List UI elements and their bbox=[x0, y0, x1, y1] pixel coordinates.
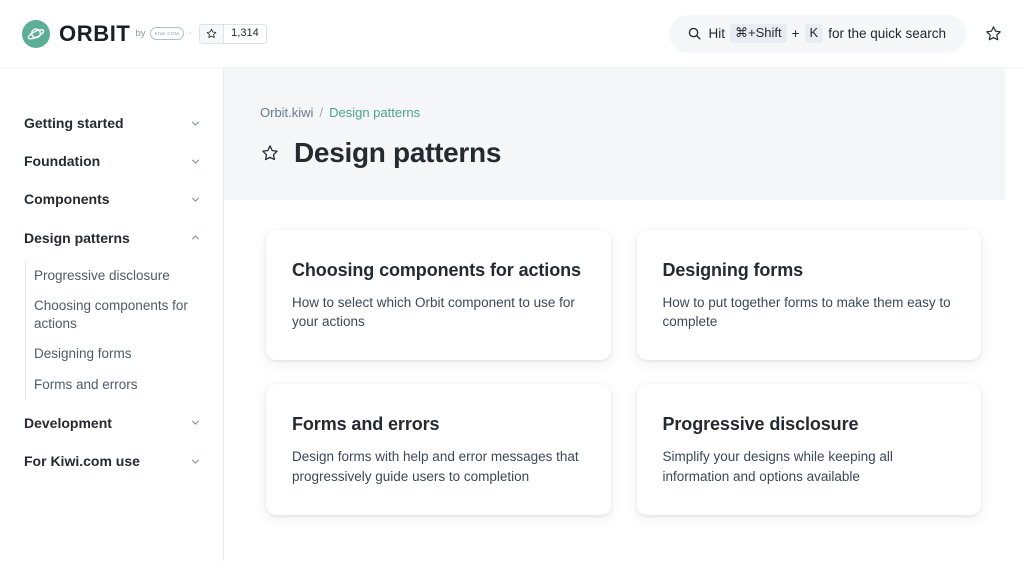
breadcrumb: Orbit.kiwi / Design patterns bbox=[260, 106, 1005, 119]
brand-logo-link[interactable]: ORBIT bbox=[22, 20, 130, 48]
sidebar-group-for-kiwi-com-use[interactable]: For Kiwi.com use bbox=[24, 442, 201, 480]
pattern-cards-grid: Choosing components for actionsHow to se… bbox=[266, 230, 981, 515]
sidebar-group-design-patterns[interactable]: Design patterns bbox=[24, 219, 201, 257]
chevron-up-icon[interactable] bbox=[190, 232, 201, 243]
pattern-card-description: How to select which Orbit component to u… bbox=[292, 293, 585, 333]
breadcrumb-root[interactable]: Orbit.kiwi bbox=[260, 106, 313, 119]
main-content: Orbit.kiwi / Design patterns Design patt… bbox=[224, 68, 1024, 561]
chevron-down-icon[interactable] bbox=[190, 456, 201, 467]
search-suffix-label: for the quick search bbox=[828, 26, 946, 41]
bookmark-star-icon[interactable] bbox=[980, 21, 1006, 47]
pattern-card-description: Simplify your designs while keeping all … bbox=[663, 447, 956, 487]
sidebar-group-label: Design patterns bbox=[24, 229, 130, 247]
sidebar-group-getting-started[interactable]: Getting started bbox=[24, 104, 201, 142]
sidebar-item-choosing-components-for-actions[interactable]: Choosing components for actions bbox=[34, 291, 201, 339]
by-label: by bbox=[135, 29, 145, 39]
github-star-count: 1,314 bbox=[224, 25, 266, 43]
sidebar-group-label: Components bbox=[24, 190, 110, 208]
pattern-card-title: Designing forms bbox=[663, 259, 956, 282]
sidebar-item-progressive-disclosure[interactable]: Progressive disclosure bbox=[34, 261, 201, 291]
page-title: Design patterns bbox=[294, 138, 501, 169]
by-kiwi-credit: by KIWI.COM bbox=[135, 27, 183, 40]
sidebar-group-foundation[interactable]: Foundation bbox=[24, 142, 201, 180]
kiwi-com-logo-text: KIWI.COM bbox=[154, 31, 178, 37]
orbit-documentation-app: ORBIT by KIWI.COM · 1,314 bbox=[0, 0, 1024, 561]
search-hint: Hit ⌘+Shift + K for the quick search bbox=[709, 24, 946, 43]
pattern-card-title: Choosing components for actions bbox=[292, 259, 585, 282]
search-hit-label: Hit bbox=[709, 26, 726, 41]
pattern-card-title: Forms and errors bbox=[292, 413, 585, 436]
shortcut-plus: + bbox=[792, 26, 800, 41]
page-title-row: Design patterns bbox=[260, 138, 1005, 169]
sidebar-group-components[interactable]: Components bbox=[24, 180, 201, 218]
pattern-card-description: Design forms with help and error message… bbox=[292, 447, 585, 487]
sidebar-group-development[interactable]: Development bbox=[24, 404, 201, 442]
sidebar-group-label: Foundation bbox=[24, 152, 100, 170]
sidebar-item-forms-and-errors[interactable]: Forms and errors bbox=[34, 370, 201, 400]
search-input[interactable]: Hit ⌘+Shift + K for the quick search bbox=[669, 15, 966, 53]
breadcrumb-separator: / bbox=[319, 106, 323, 119]
chevron-down-icon[interactable] bbox=[190, 118, 201, 129]
shortcut-key-k: K bbox=[805, 24, 824, 43]
sidebar-groups: Getting startedFoundationComponentsDesig… bbox=[0, 104, 223, 480]
sidebar-item-designing-forms[interactable]: Designing forms bbox=[34, 339, 201, 369]
header-right-actions: Hit ⌘+Shift + K for the quick search bbox=[669, 15, 1006, 53]
shortcut-key-combo: ⌘+Shift bbox=[730, 24, 787, 43]
github-star-badge[interactable]: 1,314 bbox=[199, 24, 267, 44]
sidebar-navigation: Getting startedFoundationComponentsDesig… bbox=[0, 68, 224, 561]
pattern-card[interactable]: Designing formsHow to put together forms… bbox=[637, 230, 982, 360]
chevron-down-icon[interactable] bbox=[190, 194, 201, 205]
pattern-card[interactable]: Progressive disclosureSimplify your desi… bbox=[637, 384, 982, 514]
brand-separator-dot: · bbox=[189, 28, 193, 39]
sidebar-group-label: Development bbox=[24, 414, 112, 432]
sidebar-group-label: Getting started bbox=[24, 114, 124, 132]
pattern-card[interactable]: Choosing components for actionsHow to se… bbox=[266, 230, 611, 360]
chevron-down-icon[interactable] bbox=[190, 417, 201, 428]
sidebar-group-label: For Kiwi.com use bbox=[24, 452, 140, 470]
chevron-down-icon[interactable] bbox=[190, 156, 201, 167]
orbit-planet-icon bbox=[22, 20, 50, 48]
body-row: Getting startedFoundationComponentsDesig… bbox=[0, 68, 1024, 561]
pattern-cards-section: Choosing components for actionsHow to se… bbox=[224, 200, 1024, 515]
sidebar-sublist: Progressive disclosureChoosing component… bbox=[25, 261, 201, 400]
kiwi-com-logo-icon: KIWI.COM bbox=[150, 27, 184, 40]
page-hero: Orbit.kiwi / Design patterns Design patt… bbox=[224, 68, 1005, 200]
pattern-card[interactable]: Forms and errorsDesign forms with help a… bbox=[266, 384, 611, 514]
star-icon bbox=[200, 25, 224, 43]
search-icon bbox=[687, 26, 702, 41]
brand-name: ORBIT bbox=[59, 23, 130, 45]
breadcrumb-current[interactable]: Design patterns bbox=[329, 106, 420, 119]
pattern-card-title: Progressive disclosure bbox=[663, 413, 956, 436]
pattern-card-description: How to put together forms to make them e… bbox=[663, 293, 956, 333]
top-header: ORBIT by KIWI.COM · 1,314 bbox=[0, 0, 1024, 68]
favorite-star-icon[interactable] bbox=[260, 143, 280, 163]
